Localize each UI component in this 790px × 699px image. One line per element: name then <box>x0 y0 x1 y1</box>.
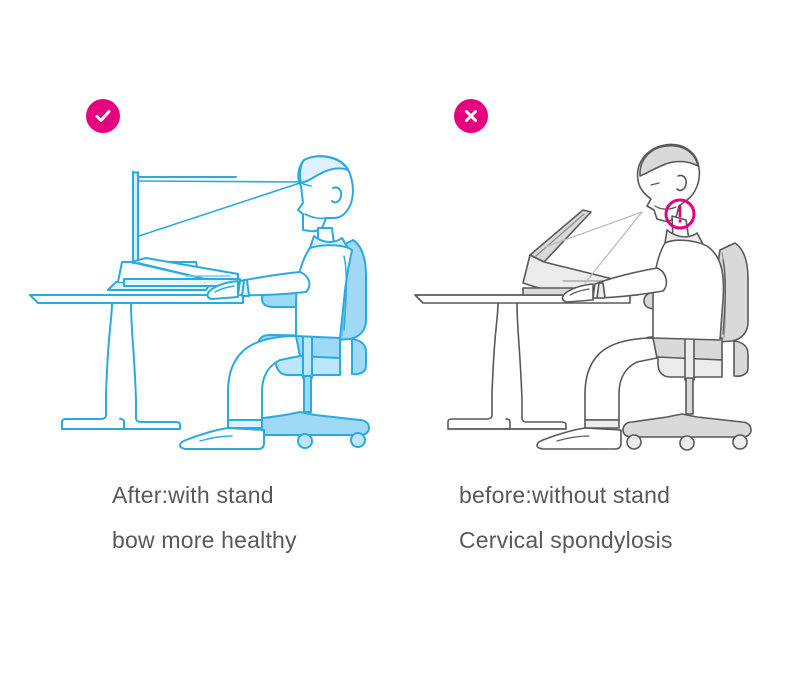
check-icon <box>93 106 113 126</box>
caption-bad-line1: before:without stand <box>459 482 670 509</box>
desk-blue <box>30 295 243 429</box>
caption-good-line2: bow more healthy <box>112 527 297 554</box>
panel-good-posture: After:with stand bow more healthy <box>0 0 395 699</box>
comparison-canvas: After:with stand bow more healthy <box>0 0 790 699</box>
sight-lines-blue <box>139 181 303 236</box>
illustration-good-posture <box>0 0 395 699</box>
illustration-bad-posture <box>395 0 790 699</box>
caption-bad-line2: Cervical spondylosis <box>459 527 673 554</box>
badge-check-good <box>86 99 120 133</box>
badge-cross-bad <box>454 99 488 133</box>
person-hunched-grey <box>537 144 725 449</box>
caption-good-line1: After:with stand <box>112 482 274 509</box>
panel-bad-posture: before:without stand Cervical spondylosi… <box>395 0 790 699</box>
cross-icon <box>461 106 481 126</box>
